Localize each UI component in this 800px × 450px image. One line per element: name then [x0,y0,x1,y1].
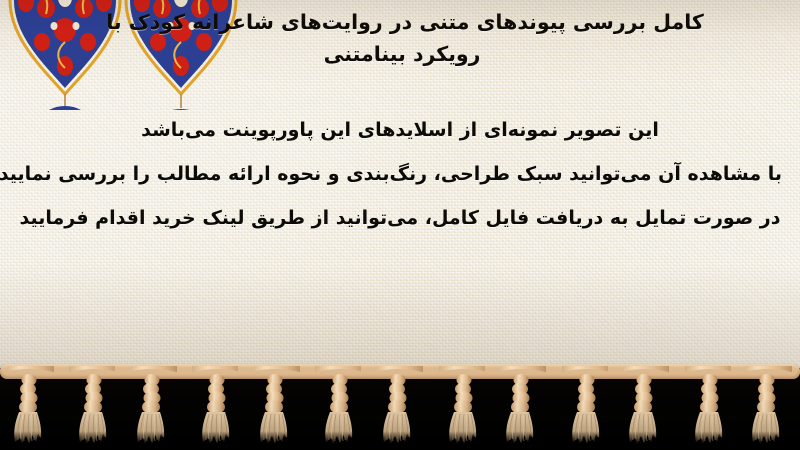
tassel [131,366,177,450]
rope-tassel-fringe [0,366,800,450]
slide-title-line-2: رویکرد بینامتنی [22,38,782,70]
tassel [500,366,546,450]
slide-body-line-1: این تصویر نمونه‌ای از اسلایدهای این پاور… [18,108,782,152]
tassel [192,366,238,450]
slide-body-line-2: با مشاهده آن می‌توانید سبک طراحی، رنگ‌بن… [18,152,782,196]
tassel [69,366,115,450]
slide-body-line-3: در صورت تمایل به دریافت فایل کامل، می‌تو… [18,196,782,240]
tassel [377,366,423,450]
slide-body: این تصویر نمونه‌ای از اسلایدهای این پاور… [18,108,782,240]
tassel [562,366,608,450]
slide-text-area: کامل بررسی پیوندهای متنی در روایت‌های شا… [0,0,800,378]
tassel [8,366,54,450]
slide-title-line-1: کامل بررسی پیوندهای متنی در روایت‌های شا… [22,6,782,38]
tassel [623,366,669,450]
tassel [746,366,792,450]
slide-title: کامل بررسی پیوندهای متنی در روایت‌های شا… [22,6,782,70]
presentation-slide: کامل بررسی پیوندهای متنی در روایت‌های شا… [0,0,800,450]
tassel [254,366,300,450]
tassel [439,366,485,450]
tassel [685,366,731,450]
tassel [315,366,361,450]
